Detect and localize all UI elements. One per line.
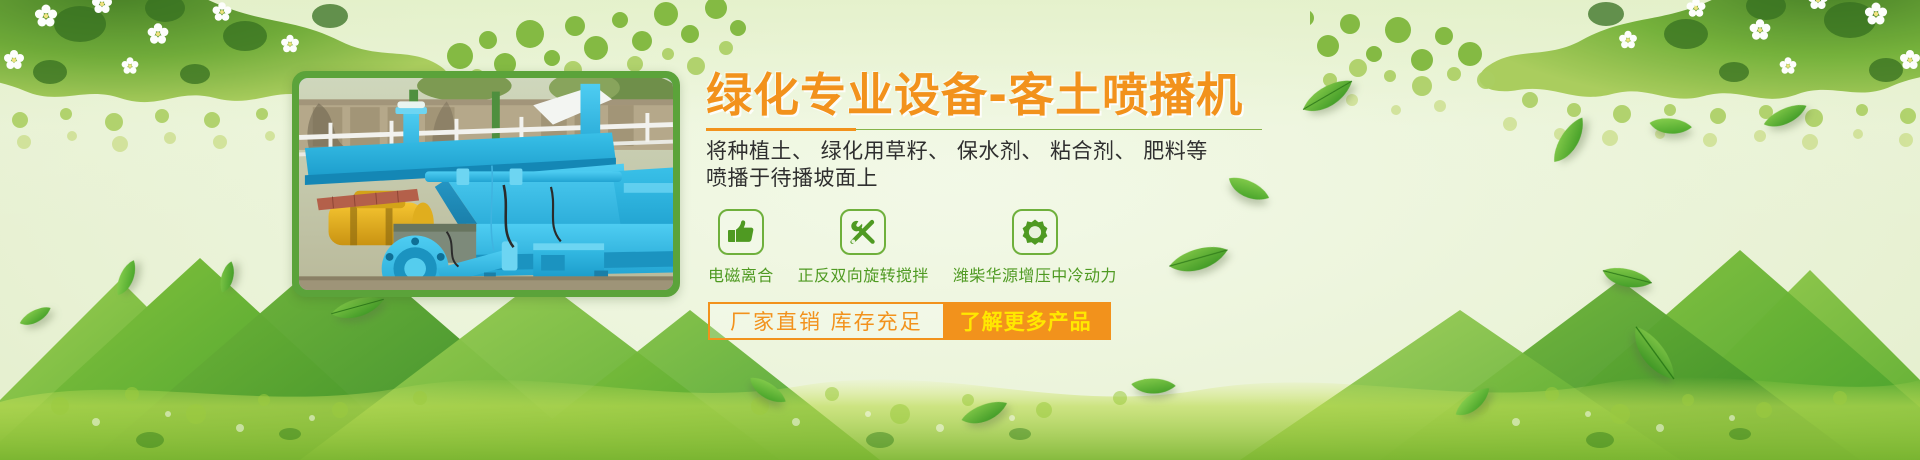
subtitle-block: 将种植土、 绿化用草籽、 保水剂、 粘合剂、 肥料等 喷播于待播坡面上 xyxy=(706,138,1446,194)
banner-content: 绿化专业设备-客土喷播机 将种植土、 绿化用草籽、 保水剂、 粘合剂、 肥料等 … xyxy=(706,70,1446,340)
subtitle-line-2: 喷播于待播坡面上 xyxy=(706,165,1446,193)
feature-item-turbo-power[interactable]: 潍柴华源增压中冷动力 xyxy=(953,209,1117,286)
promo-banner: 绿化专业设备-客土喷播机 将种植土、 绿化用草籽、 保水剂、 粘合剂、 肥料等 … xyxy=(0,0,1920,460)
cta-bar[interactable]: 厂家直销 库存充足 了解更多产品 xyxy=(708,302,1111,340)
feature-item-electromagnetic-clutch[interactable]: 电磁离合 xyxy=(708,209,774,286)
feature-label: 正反双向旋转搅拌 xyxy=(798,262,929,286)
feature-list: 电磁离合 正反双向旋转搅拌 xyxy=(708,209,1446,286)
feature-label: 电磁离合 xyxy=(708,262,774,286)
product-photo-frame[interactable] xyxy=(292,71,680,297)
learn-more-button[interactable]: 了解更多产品 xyxy=(943,304,1109,338)
feature-label: 潍柴华源增压中冷动力 xyxy=(953,262,1117,286)
cta-slogan: 厂家直销 库存充足 xyxy=(710,304,943,338)
feature-item-bidirectional-mixing[interactable]: 正反双向旋转搅拌 xyxy=(798,209,929,286)
thumbs-up-icon xyxy=(718,209,764,255)
gear-icon xyxy=(1012,209,1058,255)
divider-green-segment xyxy=(856,129,1262,130)
title-divider xyxy=(706,128,1262,131)
tools-icon xyxy=(840,209,886,255)
hydroseeding-machine-photo xyxy=(299,78,673,290)
page-title: 绿化专业设备-客土喷播机 xyxy=(706,70,1446,122)
subtitle-line-1: 将种植土、 绿化用草籽、 保水剂、 粘合剂、 肥料等 xyxy=(706,138,1446,166)
divider-orange-segment xyxy=(706,128,856,131)
